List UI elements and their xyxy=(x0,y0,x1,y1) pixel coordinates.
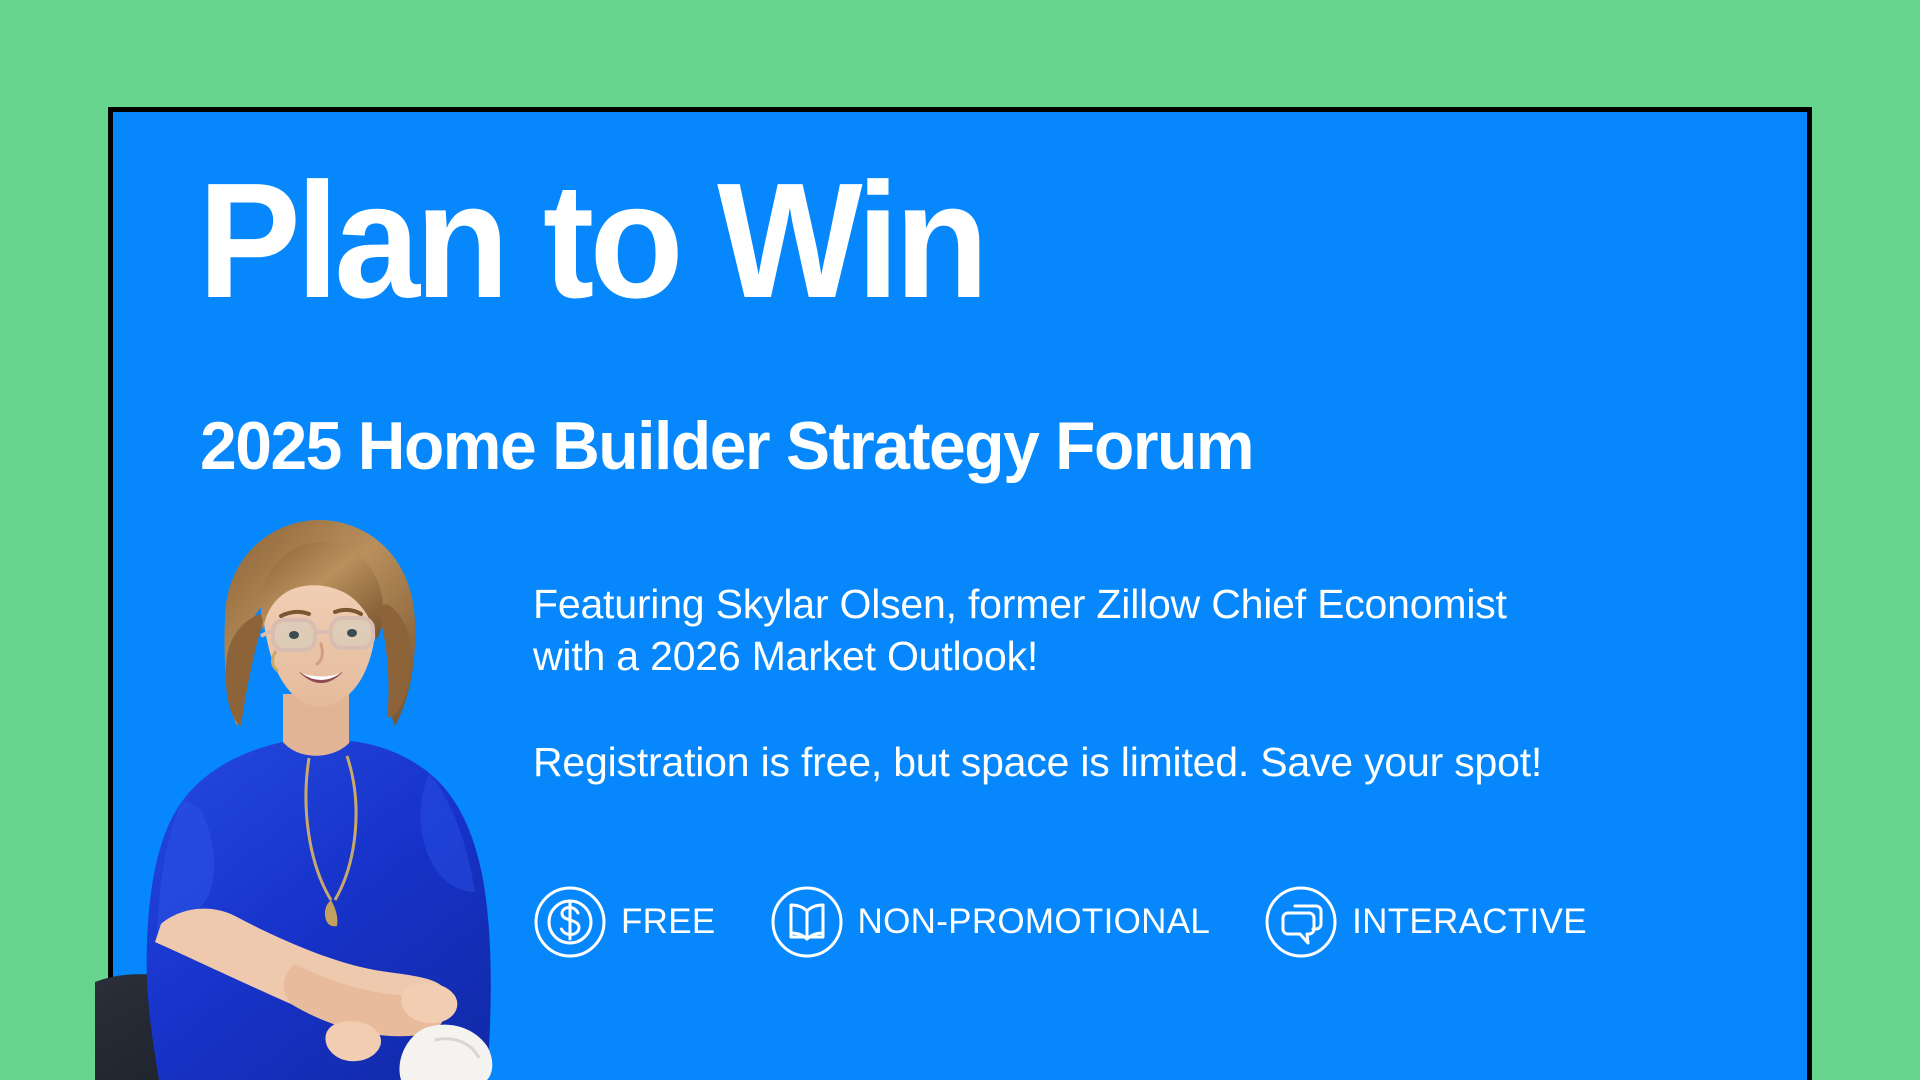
body-line-outlook: with a 2026 Market Outlook! xyxy=(533,630,1653,682)
body-line-featuring: Featuring Skylar Olsen, former Zillow Ch… xyxy=(533,578,1653,630)
paragraph-spacer xyxy=(533,683,1653,736)
body-line-registration: Registration is free, but space is limit… xyxy=(533,736,1653,788)
chat-bubbles-circle-icon xyxy=(1264,885,1338,959)
badge-label-free: FREE xyxy=(621,902,716,942)
badge-non-promotional: NON-PROMOTIONAL xyxy=(770,885,1211,959)
page-title: Plan to Win xyxy=(198,165,984,318)
badge-label-interactive: INTERACTIVE xyxy=(1352,902,1587,942)
dollar-circle-icon xyxy=(533,885,607,959)
body-line-2: with a 2026 Market Outlook! xyxy=(533,633,1038,679)
badge-free: FREE xyxy=(533,885,716,959)
page-subtitle: 2025 Home Builder Strategy Forum xyxy=(200,412,1253,480)
badge-label-non-promotional: NON-PROMOTIONAL xyxy=(858,902,1211,942)
body-copy: Featuring Skylar Olsen, former Zillow Ch… xyxy=(533,578,1653,788)
speaker-photo xyxy=(95,512,495,1080)
open-book-circle-icon xyxy=(770,885,844,959)
badge-interactive: INTERACTIVE xyxy=(1264,885,1587,959)
body-line-1: Featuring Skylar Olsen, former Zillow Ch… xyxy=(533,581,1507,627)
feature-badges: FREE NON-PROMOTIONAL xyxy=(533,885,1587,959)
body-line-3: Registration is free, but space is limit… xyxy=(533,739,1542,785)
